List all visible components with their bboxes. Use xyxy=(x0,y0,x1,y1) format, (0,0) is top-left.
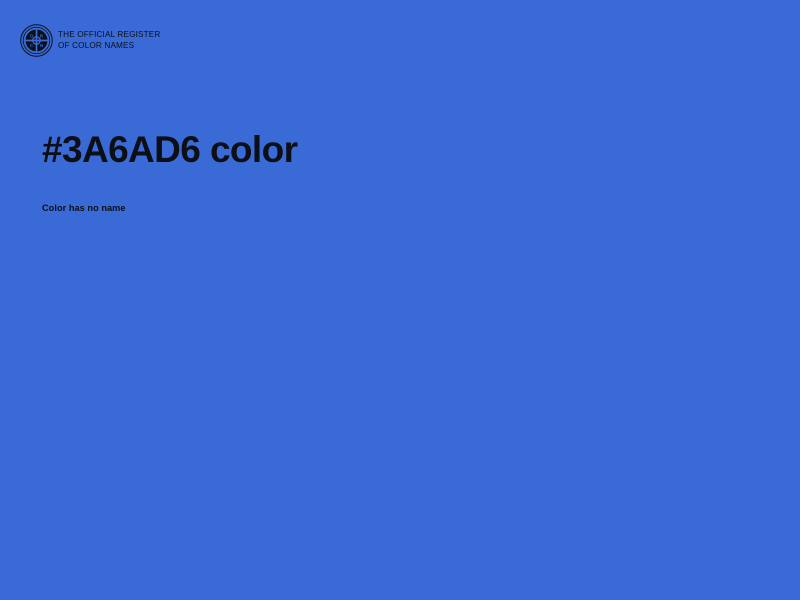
page-title: #3A6AD6 color xyxy=(42,126,742,174)
color-page: O R C N THE OFFICIAL REGISTER OF COLOR N… xyxy=(0,0,800,600)
official-register-seal-icon: O R C N xyxy=(20,24,53,57)
color-info-block: #3A6AD6 color Color has no name xyxy=(42,126,742,214)
svg-text:C: C xyxy=(30,43,33,48)
color-name-status: Color has no name xyxy=(42,174,742,214)
site-brand[interactable]: O R C N THE OFFICIAL REGISTER OF COLOR N… xyxy=(20,24,160,57)
svg-text:N: N xyxy=(40,43,43,48)
svg-text:R: R xyxy=(40,33,43,38)
brand-line-2: OF COLOR NAMES xyxy=(58,41,160,52)
brand-wordmark: THE OFFICIAL REGISTER OF COLOR NAMES xyxy=(58,30,160,51)
brand-line-1: THE OFFICIAL REGISTER xyxy=(58,30,160,41)
